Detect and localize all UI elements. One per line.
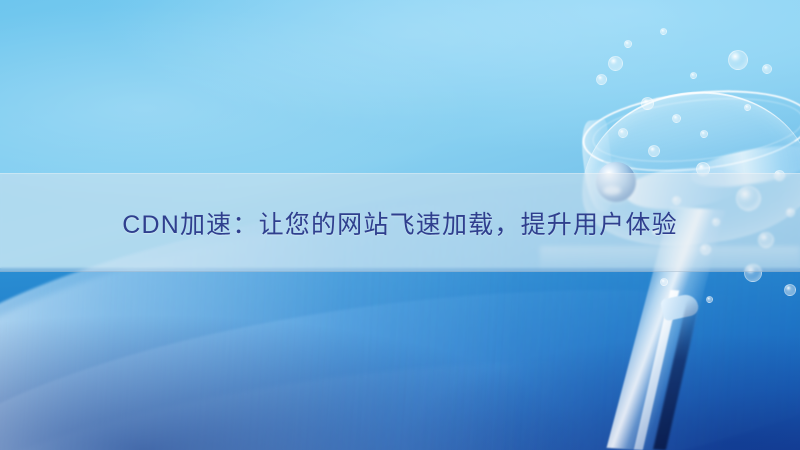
banner-caption: CDN加速：让您的网站飞速加载，提升用户体验 (0, 173, 800, 272)
air-bubble (660, 278, 668, 286)
air-bubble (762, 64, 772, 74)
air-bubble (608, 56, 623, 71)
air-bubble (784, 284, 796, 296)
air-bubble (672, 114, 681, 123)
air-bubble (618, 128, 628, 138)
air-bubble (624, 40, 632, 48)
air-bubble (596, 74, 607, 85)
air-bubble (728, 50, 748, 70)
air-bubble (744, 104, 751, 111)
banner-image: CDN加速：让您的网站飞速加载，提升用户体验 (0, 0, 800, 450)
air-bubble (660, 28, 667, 35)
air-bubble (641, 97, 654, 110)
air-bubble (690, 72, 697, 79)
air-bubble (706, 296, 713, 303)
air-bubble (700, 130, 708, 138)
air-bubble (648, 145, 660, 157)
